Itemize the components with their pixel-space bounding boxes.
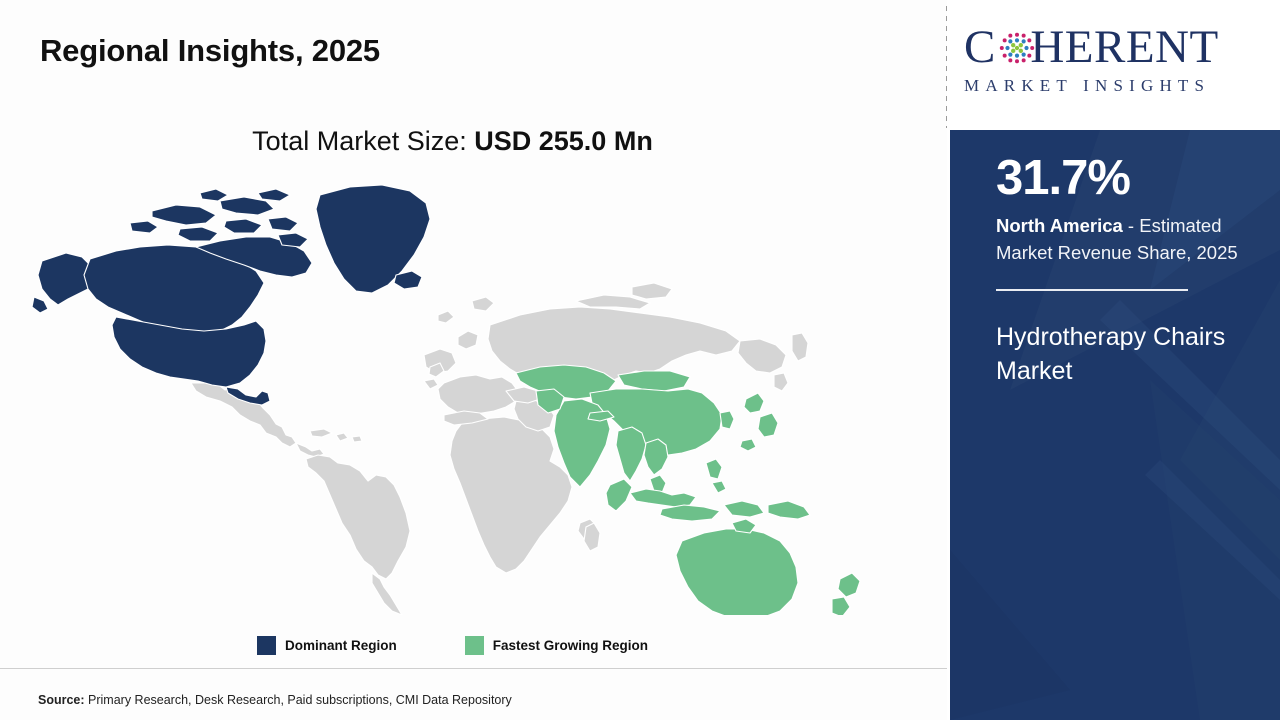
infographic-root: Regional Insights, 2025 Total Market Siz…: [0, 0, 1280, 720]
stat-panel: 31.7% North America - Estimated Market R…: [950, 130, 1280, 720]
source-note: Source: Primary Research, Desk Research,…: [38, 693, 512, 707]
legend-item-fastest-growing-region: Fastest Growing Region: [465, 636, 648, 655]
map-legend: Dominant Region Fastest Growing Region: [0, 636, 905, 655]
legend-label-fastest: Fastest Growing Region: [493, 638, 648, 653]
legend-swatch-fastest-icon: [465, 636, 484, 655]
world-map-svg: [20, 175, 920, 615]
logo-word-suffix: HERENT: [1030, 21, 1218, 73]
stat-description: North America - Estimated Market Revenue…: [996, 212, 1258, 266]
logo-word-prefix: C: [964, 21, 996, 73]
world-map: [20, 175, 920, 615]
globe-icon: [998, 29, 1036, 67]
market-size-label: Total Market Size:: [252, 126, 474, 156]
logo-subtitle: MARKET INSIGHTS: [964, 76, 1264, 96]
page-title: Regional Insights, 2025: [40, 33, 380, 69]
stat-divider: [996, 289, 1188, 291]
stat-percentage: 31.7%: [996, 150, 1258, 206]
source-label: Source:: [38, 693, 85, 707]
legend-swatch-dominant-icon: [257, 636, 276, 655]
legend-item-dominant-region: Dominant Region: [257, 636, 397, 655]
vertical-dotted-divider: [946, 6, 947, 128]
market-title: Hydrotherapy Chairs Market: [996, 320, 1256, 388]
legend-label-dominant: Dominant Region: [285, 638, 397, 653]
brand-logo: COHERENT: [950, 0, 1280, 130]
footer-divider: [0, 668, 947, 669]
left-content-panel: Regional Insights, 2025 Total Market Siz…: [0, 0, 947, 720]
total-market-size: Total Market Size: USD 255.0 Mn: [0, 126, 905, 157]
market-size-value: USD 255.0 Mn: [474, 126, 653, 156]
stat-region-name: North America: [996, 215, 1123, 236]
map-dominant-regions: [32, 185, 430, 405]
source-text: Primary Research, Desk Research, Paid su…: [85, 693, 512, 707]
